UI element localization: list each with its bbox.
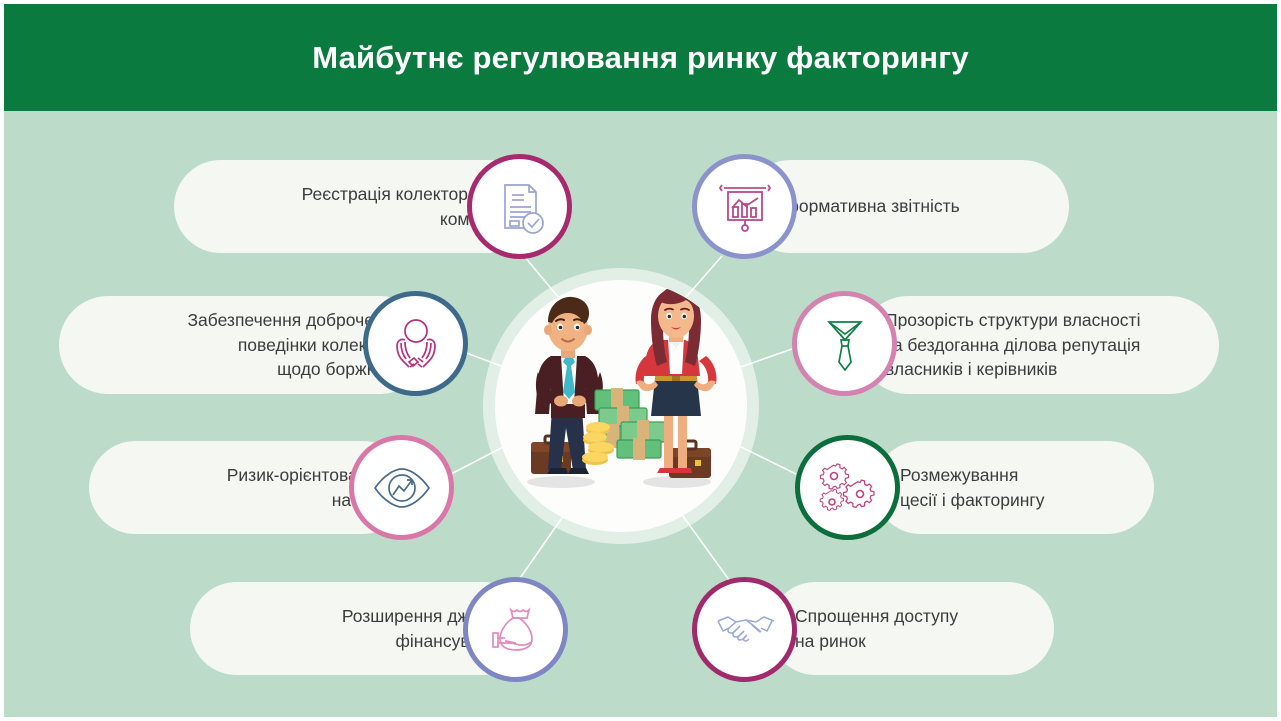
money-bag-hand-icon — [487, 601, 545, 659]
badge-money-bag-hand[interactable] — [463, 577, 568, 682]
center-illustration — [495, 280, 747, 532]
gears-icon — [817, 459, 879, 517]
handshake-icon — [714, 607, 776, 653]
badge-handshake[interactable] — [692, 577, 797, 682]
badge-caring-hands[interactable] — [363, 291, 468, 396]
infographic-canvas: Майбутнє регулювання ринку факторингу — [4, 4, 1277, 717]
badge-necktie[interactable] — [792, 291, 897, 396]
document-check-icon — [491, 178, 549, 236]
badge-document-check[interactable] — [467, 154, 572, 259]
item-pill[interactable]: Спрощення доступу на ринок — [769, 582, 1054, 675]
eye-trend-icon — [371, 464, 433, 512]
item-label: Спрощення доступу на ринок — [769, 604, 1054, 654]
badge-presentation-chart[interactable] — [692, 154, 797, 259]
badge-eye-trend[interactable] — [349, 435, 454, 540]
presentation-chart-icon — [715, 178, 775, 236]
infographic-slide: Майбутнє регулювання ринку факторингу — [0, 0, 1281, 721]
item-label: Розмежування цесії і факторингу — [874, 463, 1154, 513]
necktie-icon — [816, 313, 874, 375]
page-title: Майбутнє регулювання ринку факторингу — [312, 40, 969, 76]
item-pill[interactable]: Розмежування цесії і факторингу — [874, 441, 1154, 534]
badge-gears[interactable] — [795, 435, 900, 540]
item-label: Прозорість структури власності та бездог… — [859, 308, 1219, 383]
caring-hands-icon — [386, 315, 446, 373]
header-bar: Майбутнє регулювання ринку факторингу — [4, 4, 1277, 111]
item-pill[interactable]: Прозорість структури власності та бездог… — [859, 296, 1219, 394]
